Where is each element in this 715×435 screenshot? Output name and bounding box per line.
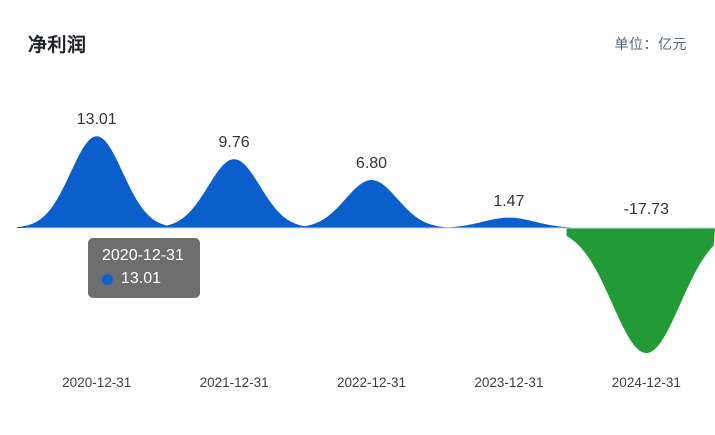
data-label: 13.01 <box>77 112 117 128</box>
chart-tooltip: 2020-12-31 13.01 <box>88 238 200 298</box>
data-label: -17.73 <box>624 202 669 218</box>
area-spike[interactable] <box>567 228 715 353</box>
area-spike[interactable] <box>154 159 313 228</box>
area-spike[interactable] <box>429 218 588 228</box>
data-label: 1.47 <box>493 194 524 210</box>
area-spike[interactable] <box>17 136 176 228</box>
tooltip-value: 13.01 <box>121 269 161 289</box>
tooltip-title: 2020-12-31 <box>102 246 186 266</box>
dot-icon <box>102 274 113 285</box>
chart-plot-area[interactable] <box>0 0 715 435</box>
tooltip-series-row: 13.01 <box>102 269 186 289</box>
data-label: 9.76 <box>219 135 250 151</box>
data-label: 6.80 <box>356 156 387 172</box>
area-spike[interactable] <box>292 180 451 228</box>
net-profit-chart: 净利润 单位：亿元 13.019.766.801.47-17.73 2020-1… <box>0 0 715 435</box>
